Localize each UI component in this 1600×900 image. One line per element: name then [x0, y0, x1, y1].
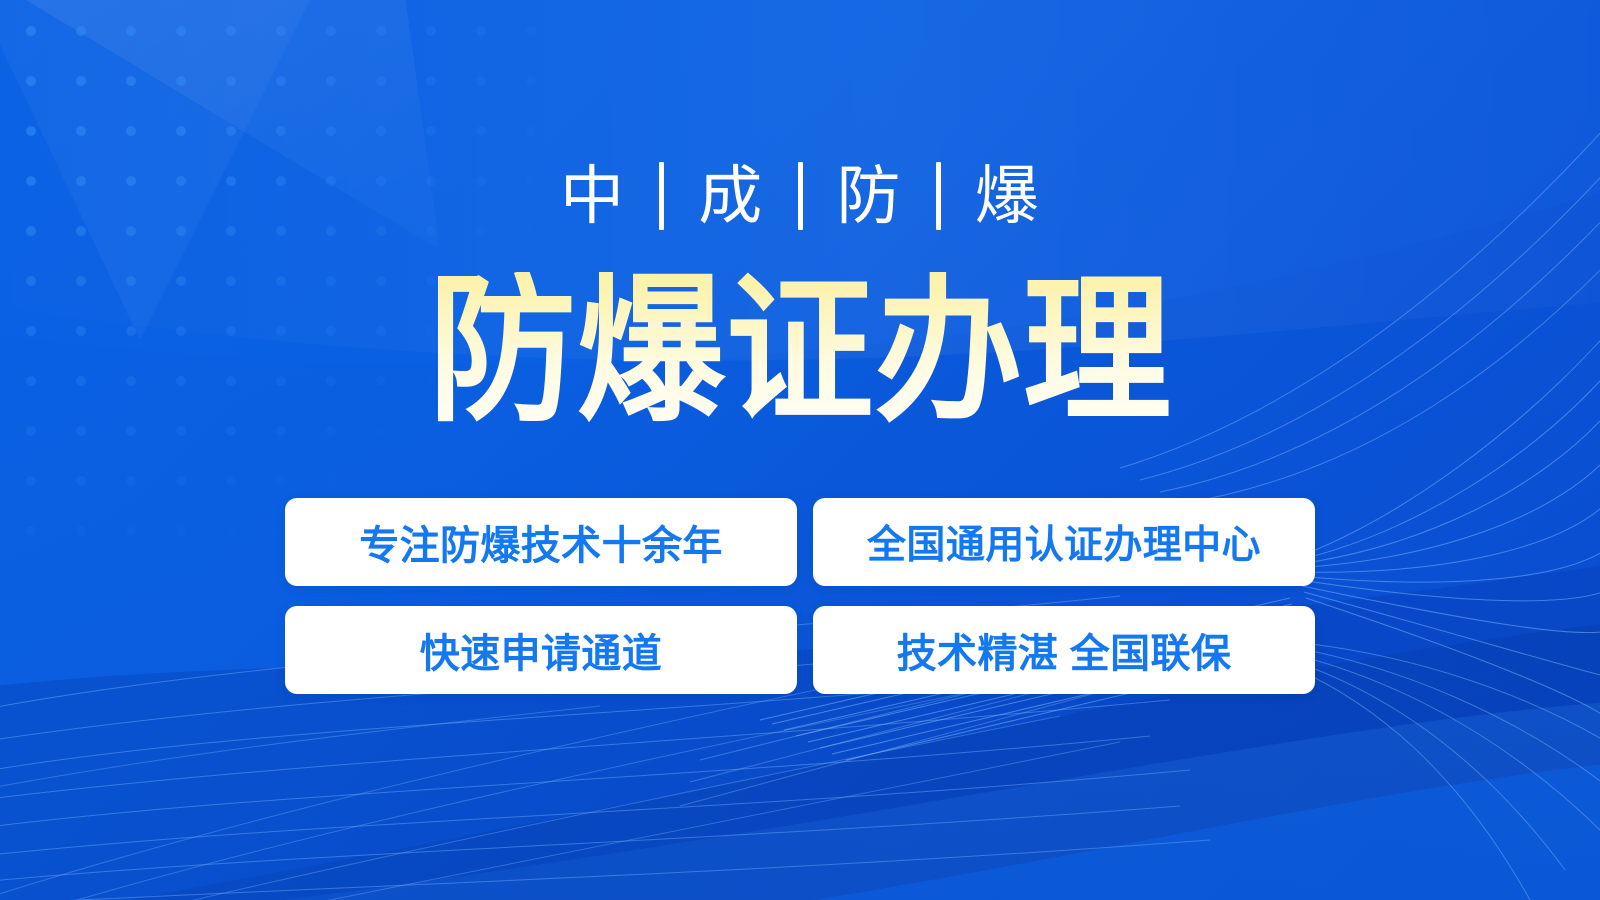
- eyebrow-char-1: 中: [556, 164, 629, 228]
- brand-eyebrow: 中 成 防 爆: [556, 162, 1044, 230]
- feature-pill-grid: 专注防爆技术十余年 全国通用认证办理中心 快速申请通道 技术精湛 全国联保: [285, 498, 1315, 694]
- eyebrow-separator-1: [659, 162, 664, 230]
- feature-pill-nationwide-support[interactable]: 技术精湛 全国联保: [813, 606, 1315, 694]
- page-title: 防爆证办理: [428, 272, 1172, 432]
- feature-pill-fast-channel[interactable]: 快速申请通道: [285, 606, 797, 694]
- feature-pill-national-center[interactable]: 全国通用认证办理中心: [813, 498, 1315, 586]
- eyebrow-char-4: 爆: [971, 164, 1044, 228]
- eyebrow-separator-3: [936, 162, 941, 230]
- banner-content: 中 成 防 爆 防爆证办理 专注防爆技术十余年 全国通用认证办理中心 快速申请通…: [0, 0, 1600, 900]
- eyebrow-separator-2: [798, 162, 803, 230]
- eyebrow-char-2: 成: [694, 164, 767, 228]
- promo-banner: 中 成 防 爆 防爆证办理 专注防爆技术十余年 全国通用认证办理中心 快速申请通…: [0, 0, 1600, 900]
- eyebrow-char-3: 防: [833, 164, 906, 228]
- feature-pill-experience[interactable]: 专注防爆技术十余年: [285, 498, 797, 586]
